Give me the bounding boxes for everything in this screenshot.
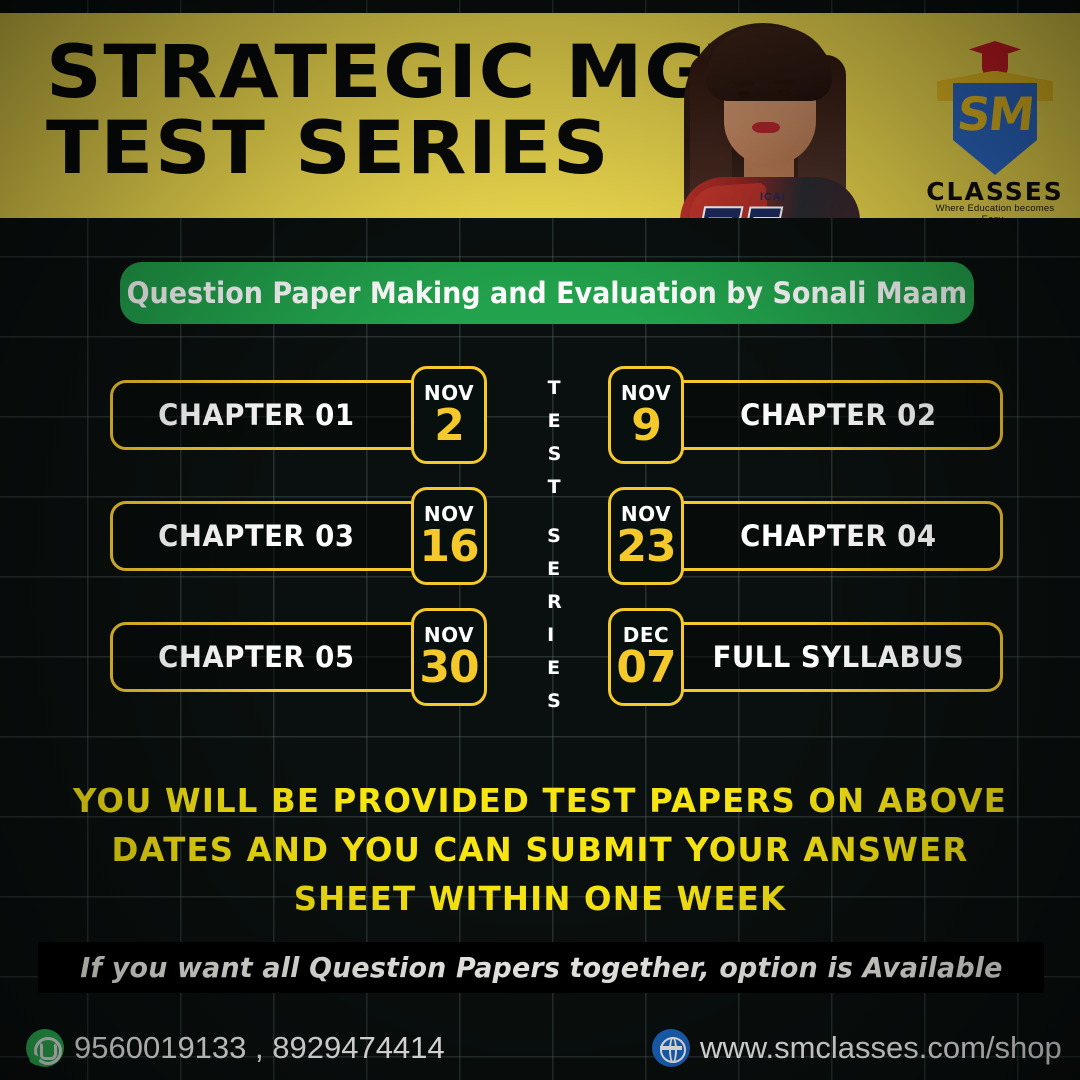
- date-box-right[interactable]: DEC 07: [608, 608, 684, 706]
- date-box-left[interactable]: NOV 30: [411, 608, 487, 706]
- date-box-right[interactable]: NOV 23: [608, 487, 684, 585]
- chapter-pill-left[interactable]: CHAPTER 05: [110, 622, 445, 692]
- contact-phone[interactable]: 9560019133 , 8929474414: [26, 1029, 445, 1067]
- date-day: 2: [434, 404, 464, 448]
- instructor-photo: CA 75 ICAI CA: [632, 13, 884, 218]
- offer-strip-text: If you want all Question Papers together…: [80, 951, 1002, 984]
- date-box-left[interactable]: NOV 16: [411, 487, 487, 585]
- logo-name: CLASSES: [925, 177, 1065, 206]
- brand-logo: SM CLASSES Where Education becomes Easy.…: [925, 39, 1065, 218]
- hair-front: [706, 27, 832, 101]
- schedule-row: CHAPTER 03 NOV 16 NOV 23 CHAPTER 04: [0, 487, 1080, 585]
- date-box-right[interactable]: NOV 9: [608, 366, 684, 464]
- logo-tagline: Where Education becomes Easy..: [925, 203, 1065, 218]
- icai-label: ICAI: [760, 191, 786, 203]
- chapter-pill-right[interactable]: CHAPTER 02: [632, 380, 1003, 450]
- eye-right: [778, 89, 791, 96]
- chapter-label: CHAPTER 04: [740, 519, 936, 553]
- header-band: STRATEGIC MGT TEST SERIES CA 75 ICAI CA: [0, 13, 1080, 218]
- poster-background: STRATEGIC MGT TEST SERIES CA 75 ICAI CA: [0, 0, 1080, 1080]
- footer: 9560019133 , 8929474414 www.smclasses.co…: [0, 1020, 1080, 1080]
- date-day: 9: [631, 404, 661, 448]
- chapter-pill-right[interactable]: FULL SYLLABUS: [632, 622, 1003, 692]
- chapter-pill-left[interactable]: CHAPTER 01: [110, 380, 445, 450]
- course-banner-text: Question Paper Making and Evaluation by …: [127, 276, 967, 310]
- chapter-label: FULL SYLLABUS: [713, 640, 965, 674]
- schedule-row: CHAPTER 01 NOV 2 NOV 9 CHAPTER 02: [0, 366, 1080, 464]
- chapter-pill-right[interactable]: CHAPTER 04: [632, 501, 1003, 571]
- lips: [752, 122, 780, 133]
- chapter-label: CHAPTER 05: [158, 640, 354, 674]
- date-day: 23: [616, 525, 675, 569]
- instructions-text: YOU WILL BE PROVIDED TEST PAPERS ON ABOV…: [11, 776, 1069, 923]
- schedule-section: TEST SERIES CHAPTER 01 NOV 2 NOV 9 CHAPT…: [0, 366, 1080, 726]
- date-day: 30: [419, 646, 478, 690]
- globe-icon: [652, 1029, 690, 1067]
- eye-left: [738, 91, 751, 98]
- website-url: www.smclasses.com/shop: [700, 1030, 1062, 1066]
- chapter-pill-left[interactable]: CHAPTER 03: [110, 501, 445, 571]
- offer-strip: If you want all Question Papers together…: [38, 942, 1044, 993]
- contact-website[interactable]: www.smclasses.com/shop: [652, 1029, 1062, 1067]
- date-day: 16: [419, 525, 478, 569]
- whatsapp-icon: [26, 1029, 64, 1067]
- schedule-row: CHAPTER 05 NOV 30 DEC 07 FULL SYLLABUS: [0, 608, 1080, 706]
- date-box-left[interactable]: NOV 2: [411, 366, 487, 464]
- course-banner: Question Paper Making and Evaluation by …: [120, 262, 974, 324]
- chapter-label: CHAPTER 01: [158, 398, 354, 432]
- logo-monogram: SM: [951, 91, 1040, 137]
- phone-numbers: 9560019133 , 8929474414: [74, 1030, 445, 1066]
- date-day: 07: [616, 646, 675, 690]
- chapter-label: CHAPTER 02: [740, 398, 936, 432]
- chapter-label: CHAPTER 03: [158, 519, 354, 553]
